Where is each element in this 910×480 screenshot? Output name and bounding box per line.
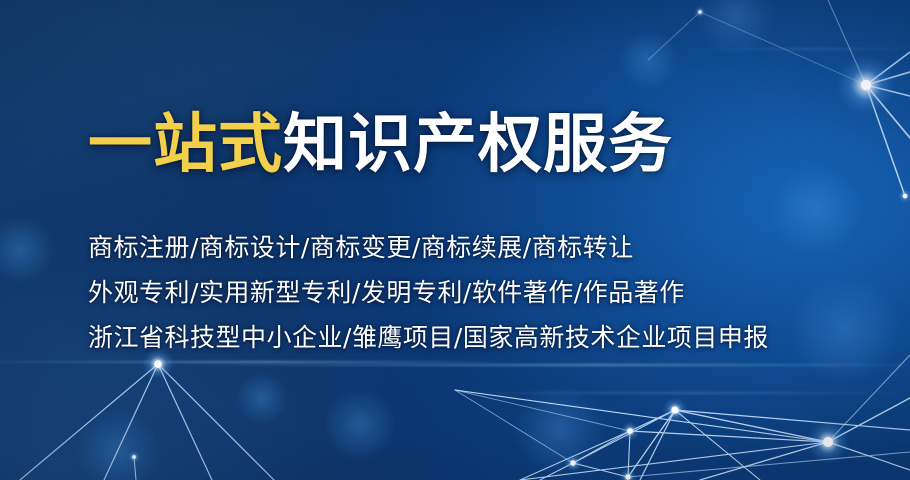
page-title: 一站式知识产权服务 [88, 113, 673, 177]
headline-rest: 知识产权服务 [283, 108, 673, 182]
service-line-trademark: 商标注册/商标设计/商标变更/商标续展/商标转让 [88, 225, 769, 270]
service-list: 商标注册/商标设计/商标变更/商标续展/商标转让 外观专利/实用新型专利/发明专… [88, 225, 769, 360]
service-line-patent: 外观专利/实用新型专利/发明专利/软件著作/作品著作 [88, 270, 769, 315]
hero-banner: 一站式知识产权服务 商标注册/商标设计/商标变更/商标续展/商标转让 外观专利/… [0, 0, 910, 480]
headline-highlight: 一站式 [88, 108, 283, 182]
hero-content: 一站式知识产权服务 商标注册/商标设计/商标变更/商标续展/商标转让 外观专利/… [88, 0, 848, 480]
service-line-projects: 浙江省科技型中小企业/雏鹰项目/国家高新技术企业项目申报 [88, 315, 769, 360]
